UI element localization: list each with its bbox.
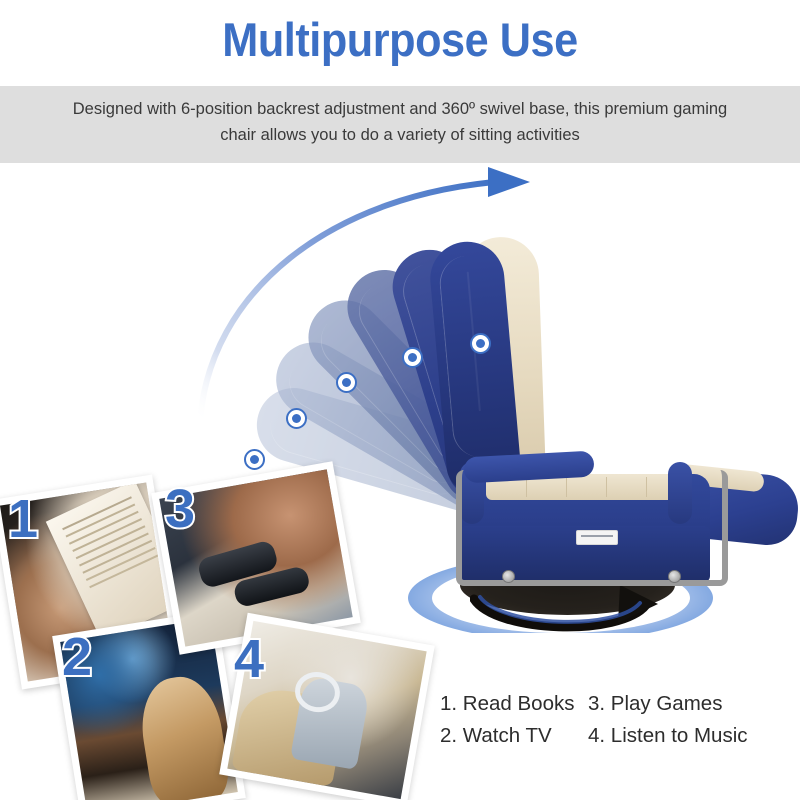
chair-seat-assembly (430, 418, 760, 598)
frame-bolt-right (668, 570, 681, 583)
photo-number-1: 1 (8, 488, 38, 550)
recline-marker-3 (286, 408, 307, 429)
product-feature-image: Multipurpose Use Designed with 6-positio… (0, 0, 800, 800)
brand-tag (576, 530, 618, 545)
activity-caption-list: 1. Read Books 3. Play Games 2. Watch TV … (440, 688, 790, 752)
caption-row-2: 2. Watch TV 4. Listen to Music (440, 720, 790, 752)
chair-metal-frame (456, 470, 728, 586)
photo-number-2: 2 (62, 626, 92, 688)
photo-number-4: 4 (234, 628, 264, 690)
caption-row-1: 1. Read Books 3. Play Games (440, 688, 790, 720)
page-title: Multipurpose Use (32, 12, 768, 67)
activity-photo-collage: 1 2 3 4 (0, 470, 420, 800)
recline-marker-4 (336, 372, 357, 393)
caption-listen-music: 4. Listen to Music (588, 720, 748, 752)
recline-marker-6 (470, 333, 491, 354)
caption-read-books: 1. Read Books (440, 688, 588, 720)
description-text: Designed with 6-position backrest adjust… (60, 96, 740, 148)
recline-marker-2 (244, 449, 265, 470)
frame-bolt-left (502, 570, 515, 583)
photo-number-3: 3 (165, 478, 195, 540)
recline-marker-5 (402, 347, 423, 368)
caption-play-games: 3. Play Games (588, 688, 722, 720)
viewer-hair (134, 671, 232, 800)
caption-watch-tv: 2. Watch TV (440, 720, 588, 752)
